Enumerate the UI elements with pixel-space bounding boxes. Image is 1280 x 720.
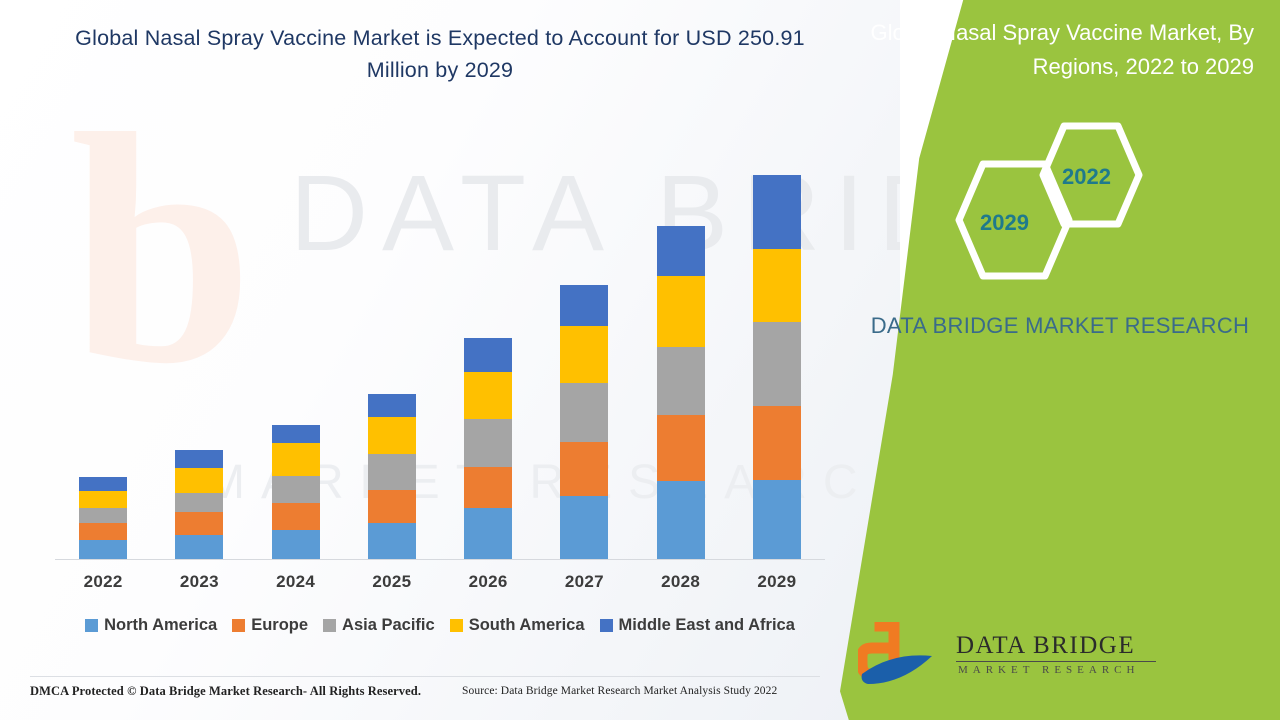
legend-label: Europe — [251, 616, 308, 635]
legend-item[interactable]: Europe — [232, 616, 308, 635]
legend-label: Asia Pacific — [342, 616, 435, 635]
legend-swatch-icon — [600, 619, 613, 632]
bar-segment[interactable] — [175, 493, 223, 513]
bar-slot — [440, 160, 536, 559]
bar-segment[interactable] — [657, 347, 705, 415]
bar-segment[interactable] — [657, 226, 705, 276]
bar-segment[interactable] — [753, 322, 801, 406]
x-axis-tick-label: 2022 — [55, 572, 151, 592]
bar-segment[interactable] — [560, 326, 608, 383]
x-axis-tick-label: 2026 — [440, 572, 536, 592]
legend-swatch-icon — [323, 619, 336, 632]
hexagon-group: 2029 2022 — [840, 120, 1280, 290]
bar-segment[interactable] — [272, 503, 320, 530]
x-axis-tick-label: 2028 — [633, 572, 729, 592]
x-axis-tick-label: 2023 — [151, 572, 247, 592]
bar-segment[interactable] — [79, 508, 127, 523]
x-axis-tick-label: 2024 — [248, 572, 344, 592]
bar-segment[interactable] — [753, 175, 801, 250]
legend-item[interactable]: Asia Pacific — [323, 616, 435, 635]
green-background-shape — [840, 0, 1280, 720]
chart-panel: b DATA BRIDGE MARKET RESEARCH Global Nas… — [0, 0, 900, 720]
stacked-bar[interactable] — [368, 394, 416, 559]
bar-segment[interactable] — [175, 468, 223, 493]
hexagon-2029-label: 2029 — [980, 210, 1029, 236]
legend-swatch-icon — [450, 619, 463, 632]
logo-tagline: MARKET RESEARCH — [958, 664, 1139, 676]
bar-slot — [633, 160, 729, 559]
bar-segment[interactable] — [753, 406, 801, 481]
bar-segment[interactable] — [753, 249, 801, 322]
legend-swatch-icon — [232, 619, 245, 632]
bar-slot — [536, 160, 632, 559]
bar-segment[interactable] — [464, 338, 512, 372]
data-bridge-logo-icon — [858, 622, 950, 688]
bar-segment[interactable] — [79, 540, 127, 559]
brand-panel: Global Nasal Spray Vaccine Market, By Re… — [840, 0, 1280, 720]
bar-segment[interactable] — [79, 477, 127, 491]
legend-item[interactable]: North America — [85, 616, 217, 635]
bar-segment[interactable] — [368, 523, 416, 559]
bar-segment[interactable] — [368, 454, 416, 489]
bar-segment[interactable] — [560, 496, 608, 559]
bar-segment[interactable] — [368, 490, 416, 523]
bar-segment[interactable] — [657, 415, 705, 481]
bar-segment[interactable] — [368, 394, 416, 417]
x-axis-labels: 20222023202420252026202720282029 — [55, 572, 825, 592]
legend-label: North America — [104, 616, 217, 635]
bar-segment[interactable] — [175, 535, 223, 559]
brand-panel-title: Global Nasal Spray Vaccine Market, By Re… — [858, 16, 1268, 84]
bar-segment[interactable] — [79, 523, 127, 541]
bar-slot — [151, 160, 247, 559]
bar-segment[interactable] — [657, 481, 705, 559]
stacked-bar[interactable] — [560, 285, 608, 560]
x-axis-tick-label: 2027 — [536, 572, 632, 592]
bar-segment[interactable] — [464, 508, 512, 559]
stacked-bar[interactable] — [79, 477, 127, 559]
bar-segment[interactable] — [464, 467, 512, 508]
bar-segment[interactable] — [272, 476, 320, 503]
bar-slot — [55, 160, 151, 559]
bar-segment[interactable] — [464, 372, 512, 419]
bar-segment[interactable] — [560, 383, 608, 442]
bar-segment[interactable] — [175, 450, 223, 468]
source-note: Source: Data Bridge Market Research Mark… — [462, 685, 777, 697]
stacked-bar[interactable] — [753, 175, 801, 559]
legend-swatch-icon — [85, 619, 98, 632]
plot-area — [55, 160, 825, 560]
footer-divider — [30, 676, 820, 677]
logo-wordmark: DATA BRIDGE — [956, 632, 1135, 660]
page-title: Global Nasal Spray Vaccine Market is Exp… — [60, 22, 820, 86]
chart-legend: North AmericaEuropeAsia PacificSouth Ame… — [55, 616, 825, 635]
bar-segment[interactable] — [753, 480, 801, 559]
bar-segment[interactable] — [560, 442, 608, 496]
company-logo: DATA BRIDGE MARKET RESEARCH — [858, 620, 1278, 692]
legend-item[interactable]: Middle East and Africa — [600, 616, 795, 635]
x-axis-tick-label: 2029 — [729, 572, 825, 592]
bar-segment[interactable] — [272, 425, 320, 442]
hexagon-2022-label: 2022 — [1062, 164, 1111, 190]
bar-segment[interactable] — [560, 285, 608, 326]
bar-segment[interactable] — [175, 512, 223, 535]
bar-segment[interactable] — [368, 417, 416, 454]
stacked-bar[interactable] — [657, 226, 705, 559]
bar-segment[interactable] — [79, 491, 127, 509]
bar-slot — [344, 160, 440, 559]
bar-segment[interactable] — [272, 443, 320, 476]
stacked-bar[interactable] — [464, 338, 512, 559]
bar-slot — [729, 160, 825, 559]
copyright-notice: DMCA Protected © Data Bridge Market Rese… — [30, 684, 421, 699]
bar-group — [55, 160, 825, 559]
bar-segment[interactable] — [464, 419, 512, 467]
legend-item[interactable]: South America — [450, 616, 585, 635]
stacked-bar[interactable] — [272, 425, 320, 559]
stacked-bar[interactable] — [175, 450, 223, 559]
bar-segment[interactable] — [657, 276, 705, 346]
legend-label: Middle East and Africa — [619, 616, 795, 635]
legend-label: South America — [469, 616, 585, 635]
bar-segment[interactable] — [272, 530, 320, 559]
x-axis-tick-label: 2025 — [344, 572, 440, 592]
brand-name: DATA BRIDGE MARKET RESEARCH — [860, 310, 1260, 342]
logo-divider — [956, 661, 1156, 662]
x-axis-line — [55, 559, 825, 560]
bar-slot — [248, 160, 344, 559]
